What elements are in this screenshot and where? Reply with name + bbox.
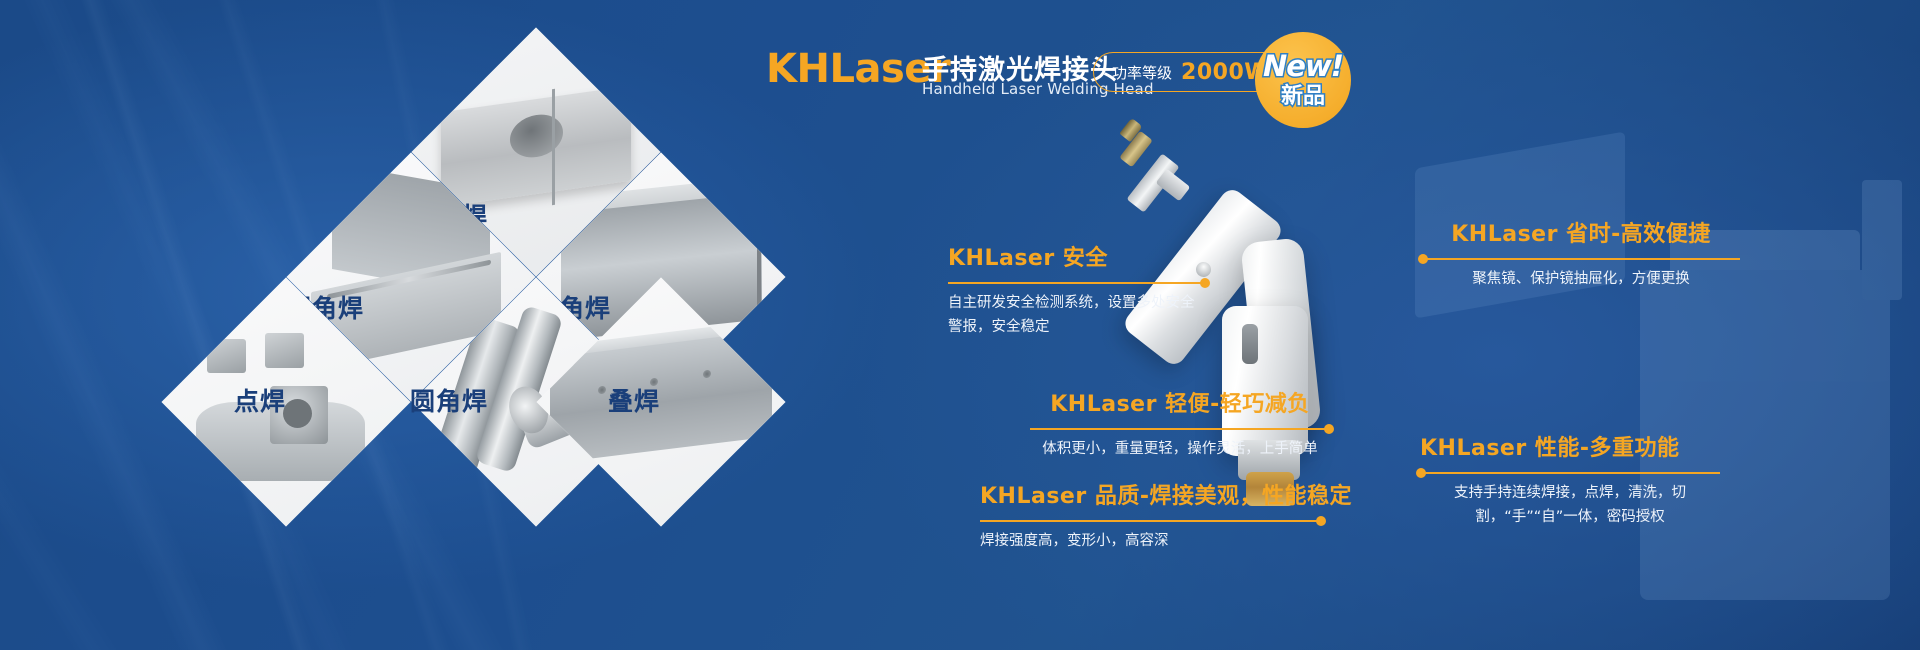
background-machine-silhouette <box>1400 110 1920 630</box>
feature-callout-performance: KHLaser 性能-多重功能 支持手持连续焊接，点焊，清洗，切割，“手”“自”… <box>1420 430 1720 530</box>
feature-rule-lightweight <box>1030 428 1330 430</box>
feature-body-lightweight: 体积更小，重量更轻，操作灵活，上手简单 <box>1030 438 1330 462</box>
weld-type-diamond-grid: 对接焊 阴角焊 阳角焊 点焊 圆角焊 <box>148 34 768 614</box>
new-badge-cn-text: 新品 <box>1281 86 1325 108</box>
feature-rule-performance <box>1420 472 1720 474</box>
feature-body-quality: 焊接强度高，变形小，高容深 <box>980 530 1322 554</box>
feature-callout-safety: KHLaser 安全 自主研发安全检测系统，设置多处安全警报，安全稳定 <box>948 240 1206 340</box>
feature-callout-lightweight: KHLaser 轻便-轻巧减负 体积更小，重量更轻，操作灵活，上手简单 <box>1030 386 1330 462</box>
weld-type-label-spot: 点焊 <box>234 382 286 418</box>
new-badge-en-text: New! <box>1263 52 1343 81</box>
feature-rule-time-saving <box>1422 258 1740 260</box>
feature-body-performance: 支持手持连续焊接，点焊，清洗，切割，“手”“自”一体，密码授权 <box>1420 482 1720 530</box>
feature-title-lightweight: KHLaser 轻便-轻巧减负 <box>1030 386 1330 418</box>
feature-rule-quality <box>980 520 1322 522</box>
feature-dot-time-saving <box>1418 254 1428 264</box>
feature-title-quality: KHLaser 品质-焊接美观，性能稳定 <box>980 478 1322 510</box>
feature-rule-safety <box>948 282 1206 284</box>
feature-body-safety: 自主研发安全检测系统，设置多处安全警报，安全稳定 <box>948 292 1206 340</box>
feature-callout-quality: KHLaser 品质-焊接美观，性能稳定 焊接强度高，变形小，高容深 <box>980 478 1322 554</box>
promo-banner: 对接焊 阴角焊 阳角焊 点焊 圆角焊 <box>0 0 1920 650</box>
feature-dot-safety <box>1200 278 1210 288</box>
feature-dot-lightweight <box>1324 424 1334 434</box>
feature-callout-time-saving: KHLaser 省时-高效便捷 聚焦镜、保护镜抽屉化，方便更换 <box>1422 216 1740 292</box>
feature-dot-quality <box>1316 516 1326 526</box>
feature-body-time-saving: 聚焦镜、保护镜抽屉化，方便更换 <box>1422 268 1740 292</box>
feature-title-performance: KHLaser 性能-多重功能 <box>1420 430 1720 462</box>
feature-title-time-saving: KHLaser 省时-高效便捷 <box>1422 216 1740 248</box>
weld-type-label-lap: 叠焊 <box>608 382 660 418</box>
feature-title-safety: KHLaser 安全 <box>948 240 1206 272</box>
weld-type-label-fillet: 圆角焊 <box>410 382 488 418</box>
power-rating-label: 功率等级 <box>1112 62 1172 83</box>
feature-dot-performance <box>1416 468 1426 478</box>
